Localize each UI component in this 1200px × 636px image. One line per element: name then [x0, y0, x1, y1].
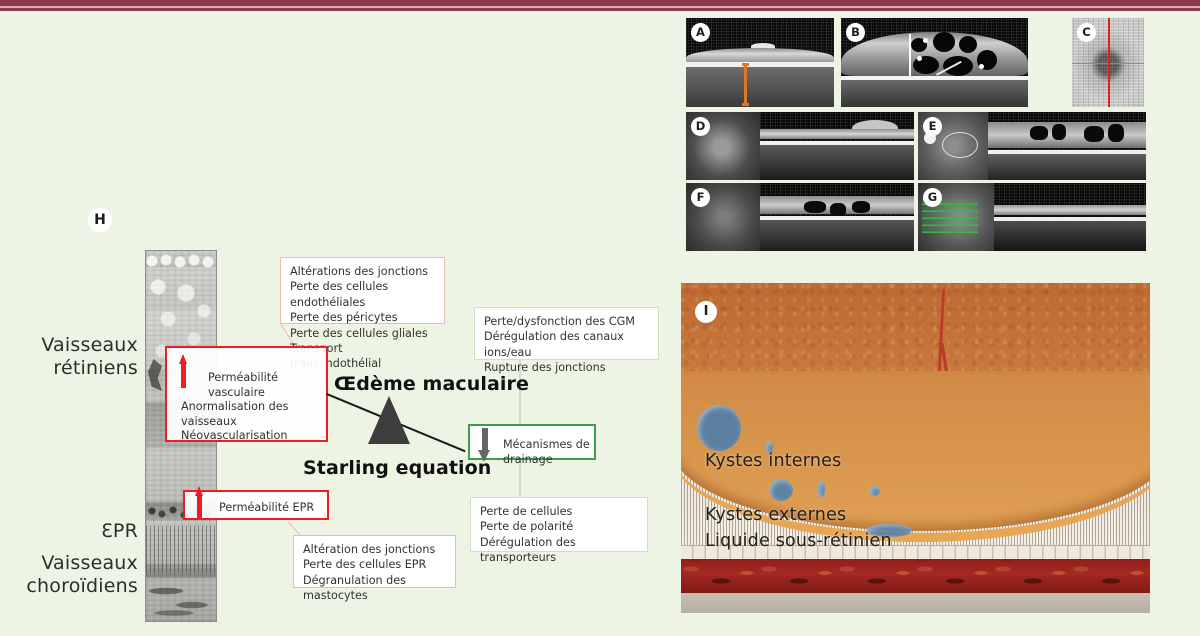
oct-cyst-f1	[804, 201, 826, 213]
panel-badge-g: G	[923, 188, 942, 207]
oct-cyst-b5	[943, 56, 973, 76]
up-arrow-red-icon-epr	[195, 486, 204, 520]
oct-panel-b	[841, 18, 1028, 107]
panel-badge-b: B	[846, 23, 865, 42]
choriocapillaris-texture	[681, 559, 1150, 595]
oct-retina-layer-d	[760, 129, 914, 139]
macular-edema-title: Œdème maculaire	[334, 373, 529, 395]
oct-rpe-line-d	[760, 141, 914, 145]
vascular-permeability-line-3: Néovascularisation	[181, 428, 287, 443]
panel-badge-f: F	[691, 188, 710, 207]
oct-bscan-d	[760, 112, 914, 180]
oct-asterisk-b2	[917, 56, 922, 61]
oct-panel-g	[918, 183, 1146, 251]
oct-rpe-line-g	[994, 217, 1146, 221]
oct-choroid-b	[841, 80, 1028, 107]
panel-badge-c: C	[1077, 23, 1096, 42]
figure-canvas: H Vaisseaux rétiniens ƐPR Vaisseaux chor…	[0, 0, 1200, 636]
oct-bscan-g	[994, 183, 1146, 251]
top-band-maroon-secondary	[0, 8, 1200, 11]
cyst-inner-large	[697, 405, 741, 451]
retina-illustration-panel-i: Kystes internes Kystes externes Liquide …	[681, 283, 1150, 613]
junction-alterations-box: Altérations des jonctions Perte des cell…	[280, 257, 445, 324]
cell-loss-box: Perte de cellules Perte de polarité Déré…	[470, 497, 648, 552]
oct-panel-d	[686, 112, 914, 180]
histology-choroid	[146, 579, 216, 621]
histology-inner-limiting-layer	[146, 251, 216, 271]
starling-fulcrum-triangle	[368, 396, 410, 444]
oct-thickness-caliper-b	[909, 34, 911, 78]
vascular-permeability-line-2: Anormalisation des vaisseaux	[181, 399, 326, 430]
panel-badge-e: E	[923, 117, 942, 136]
oct-panel-f	[686, 183, 914, 251]
oct-retina-layer-g	[994, 205, 1146, 215]
oct-bscan-f	[760, 183, 914, 251]
oct-cyst-e1	[1030, 126, 1048, 140]
oct-asterisk-b3	[979, 64, 984, 69]
oct-choroid-g	[994, 221, 1146, 251]
oct-panel-e	[918, 112, 1146, 180]
cyst-outer-3	[869, 486, 880, 496]
up-arrow-red-icon	[179, 354, 188, 388]
drainage-mechanisms-label: Mécanismes de drainage	[503, 437, 594, 468]
oct-rpe-line-f	[760, 216, 914, 220]
label-kystes-internes: Kystes internes	[705, 451, 841, 471]
vascular-permeability-box: Perméabilité vasculaire Anormalisation d…	[165, 346, 328, 442]
oct-choroid-f	[760, 220, 914, 251]
oct-bscan-e	[988, 112, 1146, 180]
oct-asterisk-b1	[923, 38, 928, 43]
starling-equation-title: Starling equation	[303, 457, 491, 479]
oct-choroid-a	[686, 67, 834, 107]
oct-cyst-f2	[830, 203, 846, 217]
label-kystes-externes: Kystes externes	[705, 505, 846, 525]
oct-cyst-e3	[1084, 126, 1104, 142]
epr-permeability-box: Perméabilité EPR	[183, 490, 329, 520]
macular-circle-marker-e	[942, 132, 978, 158]
panel-badge-a: A	[691, 23, 710, 42]
oct-cyst-b2	[933, 32, 955, 52]
oct-cyst-e2	[1052, 124, 1066, 140]
choriocapillaris-layer	[681, 559, 1150, 595]
oct-retina-layer-a	[686, 48, 834, 62]
vascular-permeability-line-1: Perméabilité vasculaire	[208, 370, 326, 401]
panel-badge-d: D	[691, 117, 710, 136]
oct-caliper-marker-a	[744, 65, 747, 106]
sclera-layer	[681, 593, 1150, 613]
oct-cyst-e4	[1108, 124, 1124, 142]
crosshair-vertical-c	[1108, 18, 1110, 107]
panel-badge-h: H	[88, 208, 112, 232]
oct-choroid-e	[988, 154, 1146, 180]
oct-caliper-bottom-a	[742, 103, 749, 106]
label-rpe: ƐPR	[0, 520, 138, 543]
epr-permeability-label: Perméabilité EPR	[219, 500, 314, 515]
oct-cyst-f3	[852, 201, 870, 213]
oct-choroid-d	[760, 145, 914, 180]
label-choroidal-vessels: Vaisseaux choroïdiens	[0, 552, 138, 598]
panel-badge-i: I	[695, 301, 717, 323]
oct-rpe-line-e	[988, 150, 1146, 154]
cyst-outer-1	[769, 479, 793, 501]
cyst-outer-2	[818, 481, 825, 497]
drainage-mechanisms-box: Mécanismes de drainage	[468, 424, 596, 460]
oct-caliper-top-a	[742, 63, 749, 66]
label-retinal-vessels: Vaisseaux rétiniens	[0, 334, 138, 380]
histology-photoreceptors	[146, 526, 216, 574]
oct-cyst-b3	[959, 36, 977, 53]
label-liquide-sous-retinien: Liquide sous-rétinien	[705, 531, 892, 551]
muller-cell-box: Perte/dysfonction des CGM Dérégulation d…	[474, 307, 659, 360]
epr-alterations-box: Altération des jonctions Perte des cellu…	[293, 535, 456, 588]
